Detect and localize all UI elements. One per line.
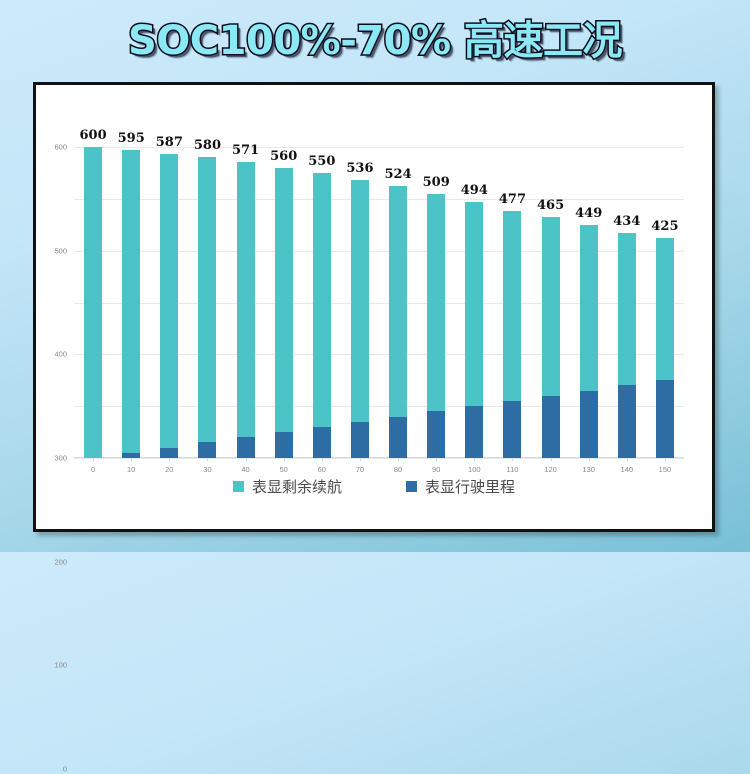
- bar-stack[interactable]: 595: [122, 150, 140, 458]
- bar-stack[interactable]: 494: [465, 202, 483, 458]
- bar-segment-remaining-range[interactable]: [237, 162, 255, 437]
- bar-segment-remaining-range[interactable]: [656, 238, 674, 381]
- bar-group[interactable]: 58720: [150, 147, 188, 458]
- x-axis-tick-mark: [436, 458, 437, 461]
- bar-value-label: 550: [308, 154, 335, 169]
- bar-group[interactable]: 50990: [417, 147, 455, 458]
- bar-segment-driven-mileage[interactable]: [542, 396, 560, 458]
- x-axis-tick-mark: [474, 458, 475, 461]
- bar-stack[interactable]: 425: [656, 238, 674, 458]
- x-axis-tick-mark: [589, 458, 590, 461]
- bar-segment-remaining-range[interactable]: [84, 147, 102, 458]
- bar-segment-driven-mileage[interactable]: [427, 411, 445, 458]
- bar-value-label: 465: [537, 198, 564, 213]
- x-axis-tick-label: 40: [241, 465, 249, 474]
- bar-value-label: 524: [384, 167, 411, 182]
- bar-segment-remaining-range[interactable]: [313, 173, 331, 427]
- y-axis-tick-label: 400: [54, 350, 67, 359]
- plot: 0100200300400500600 60005951058720580305…: [36, 85, 712, 529]
- bar-group[interactable]: 425150: [646, 147, 684, 458]
- bar-segment-driven-mileage[interactable]: [198, 442, 216, 458]
- bar-stack[interactable]: 550: [313, 173, 331, 458]
- bar-group[interactable]: 434140: [608, 147, 646, 458]
- bar-value-label: 580: [194, 138, 221, 153]
- bar-stack[interactable]: 536: [351, 180, 369, 458]
- bar-value-label: 571: [232, 143, 259, 158]
- chart-panel: 0100200300400500600 60005951058720580305…: [33, 82, 715, 532]
- bar-group[interactable]: 56050: [265, 147, 303, 458]
- x-axis-tick-mark: [322, 458, 323, 461]
- bar-segment-remaining-range[interactable]: [198, 157, 216, 442]
- bar-stack[interactable]: 509: [427, 194, 445, 458]
- bar-stack[interactable]: 571: [237, 162, 255, 458]
- bar-value-label: 425: [651, 219, 678, 234]
- bar-stack[interactable]: 449: [580, 225, 598, 458]
- legend-item[interactable]: 表显剩余续航: [233, 476, 342, 497]
- bar-value-label: 600: [79, 128, 106, 143]
- x-axis-tick-mark: [551, 458, 552, 461]
- y-axis-tick-label: 500: [54, 246, 67, 255]
- bar-segment-driven-mileage[interactable]: [389, 417, 407, 458]
- x-axis-tick-label: 10: [127, 465, 135, 474]
- x-axis-tick-mark: [398, 458, 399, 461]
- x-axis-tick-mark: [246, 458, 247, 461]
- bar-value-label: 477: [499, 192, 526, 207]
- bar-segment-remaining-range[interactable]: [618, 233, 636, 385]
- bar-segment-driven-mileage[interactable]: [618, 385, 636, 458]
- y-axis-tick-label: 200: [54, 557, 67, 566]
- bar-stack[interactable]: 524: [389, 186, 407, 458]
- y-axis-tick-label: 100: [54, 661, 67, 670]
- x-axis-tick-mark: [169, 458, 170, 461]
- legend-swatch-icon: [233, 481, 244, 492]
- title-banner: SOC100%-70% 高速工况: [0, 0, 750, 82]
- bar-stack[interactable]: 587: [160, 154, 178, 458]
- chart-legend: 表显剩余续航表显行驶里程: [36, 476, 712, 497]
- bar-group[interactable]: 55060: [303, 147, 341, 458]
- x-axis-tick-mark: [665, 458, 666, 461]
- x-axis-tick-label: 60: [318, 465, 326, 474]
- bar-stack[interactable]: 600: [84, 147, 102, 458]
- gridline: 0: [74, 458, 684, 459]
- x-axis-tick-label: 90: [432, 465, 440, 474]
- x-axis-tick-label: 110: [506, 465, 518, 474]
- x-axis-tick-mark: [93, 458, 94, 461]
- y-axis-tick-label: 300: [54, 454, 67, 463]
- bar-value-label: 494: [461, 183, 488, 198]
- bar-group[interactable]: 53670: [341, 147, 379, 458]
- bar-group[interactable]: 449130: [570, 147, 608, 458]
- x-axis-tick-label: 20: [165, 465, 173, 474]
- bar-value-label: 434: [613, 214, 640, 229]
- legend-swatch-icon: [406, 481, 417, 492]
- bar-segment-driven-mileage[interactable]: [503, 401, 521, 458]
- x-axis-tick-label: 140: [621, 465, 634, 474]
- bar-segment-driven-mileage[interactable]: [237, 437, 255, 458]
- legend-label: 表显行驶里程: [425, 476, 515, 497]
- bar-segment-remaining-range[interactable]: [427, 194, 445, 411]
- bar-segment-remaining-range[interactable]: [542, 217, 560, 396]
- x-axis-tick-label: 120: [544, 465, 557, 474]
- bar-segment-remaining-range[interactable]: [275, 168, 293, 432]
- bar-value-label: 587: [156, 135, 183, 150]
- y-axis-tick-label: 0: [63, 765, 67, 774]
- bar-stack[interactable]: 560: [275, 168, 293, 458]
- x-axis-tick-label: 0: [91, 465, 95, 474]
- bar-stack[interactable]: 580: [198, 157, 216, 458]
- bar-value-label: 536: [346, 161, 373, 176]
- x-axis-tick-mark: [512, 458, 513, 461]
- page-title: SOC100%-70% 高速工况: [128, 21, 622, 61]
- bar-value-label: 560: [270, 149, 297, 164]
- plot-area: 0100200300400500600 60005951058720580305…: [74, 147, 684, 458]
- x-axis-tick-mark: [627, 458, 628, 461]
- legend-item[interactable]: 表显行驶里程: [406, 476, 515, 497]
- x-axis-tick-mark: [284, 458, 285, 461]
- bar-group[interactable]: 6000: [74, 147, 112, 458]
- bar-group[interactable]: 57140: [227, 147, 265, 458]
- bar-segment-remaining-range[interactable]: [580, 225, 598, 390]
- x-axis-tick-label: 70: [356, 465, 364, 474]
- bar-segment-remaining-range[interactable]: [351, 180, 369, 422]
- x-axis-tick-label: 150: [659, 465, 672, 474]
- x-axis-tick-label: 130: [582, 465, 595, 474]
- x-axis-tick-label: 100: [468, 465, 481, 474]
- bar-segment-remaining-range[interactable]: [389, 186, 407, 416]
- bar-stack[interactable]: 434: [618, 233, 636, 458]
- bar-segment-remaining-range[interactable]: [503, 211, 521, 401]
- x-axis-tick-label: 80: [394, 465, 402, 474]
- bar-segment-driven-mileage[interactable]: [656, 380, 674, 458]
- bar-group[interactable]: 58030: [188, 147, 226, 458]
- bar-series-group: 6000595105872058030571405605055060536705…: [74, 147, 684, 458]
- bar-group[interactable]: 465120: [532, 147, 570, 458]
- x-axis-tick-mark: [207, 458, 208, 461]
- x-axis-tick-mark: [131, 458, 132, 461]
- x-axis-tick-label: 30: [203, 465, 211, 474]
- bar-group[interactable]: 477110: [493, 147, 531, 458]
- bar-group[interactable]: 494100: [455, 147, 493, 458]
- bar-segment-driven-mileage[interactable]: [313, 427, 331, 458]
- bar-group[interactable]: 59510: [112, 147, 150, 458]
- bar-segment-remaining-range[interactable]: [465, 202, 483, 406]
- bar-group[interactable]: 52480: [379, 147, 417, 458]
- bar-stack[interactable]: 477: [503, 211, 521, 458]
- bar-value-label: 509: [423, 175, 450, 190]
- x-axis-tick-label: 50: [280, 465, 288, 474]
- bar-segment-driven-mileage[interactable]: [465, 406, 483, 458]
- x-axis-tick-mark: [360, 458, 361, 461]
- bar-value-label: 595: [118, 131, 145, 146]
- bar-segment-remaining-range[interactable]: [122, 150, 140, 453]
- bar-stack[interactable]: 465: [542, 217, 560, 458]
- bar-segment-driven-mileage[interactable]: [160, 448, 178, 458]
- bar-segment-driven-mileage[interactable]: [580, 391, 598, 458]
- y-axis-tick-label: 600: [54, 143, 67, 152]
- bar-segment-driven-mileage[interactable]: [351, 422, 369, 458]
- bar-segment-driven-mileage[interactable]: [275, 432, 293, 458]
- bar-segment-remaining-range[interactable]: [160, 154, 178, 448]
- legend-label: 表显剩余续航: [252, 476, 342, 497]
- bar-value-label: 449: [575, 206, 602, 221]
